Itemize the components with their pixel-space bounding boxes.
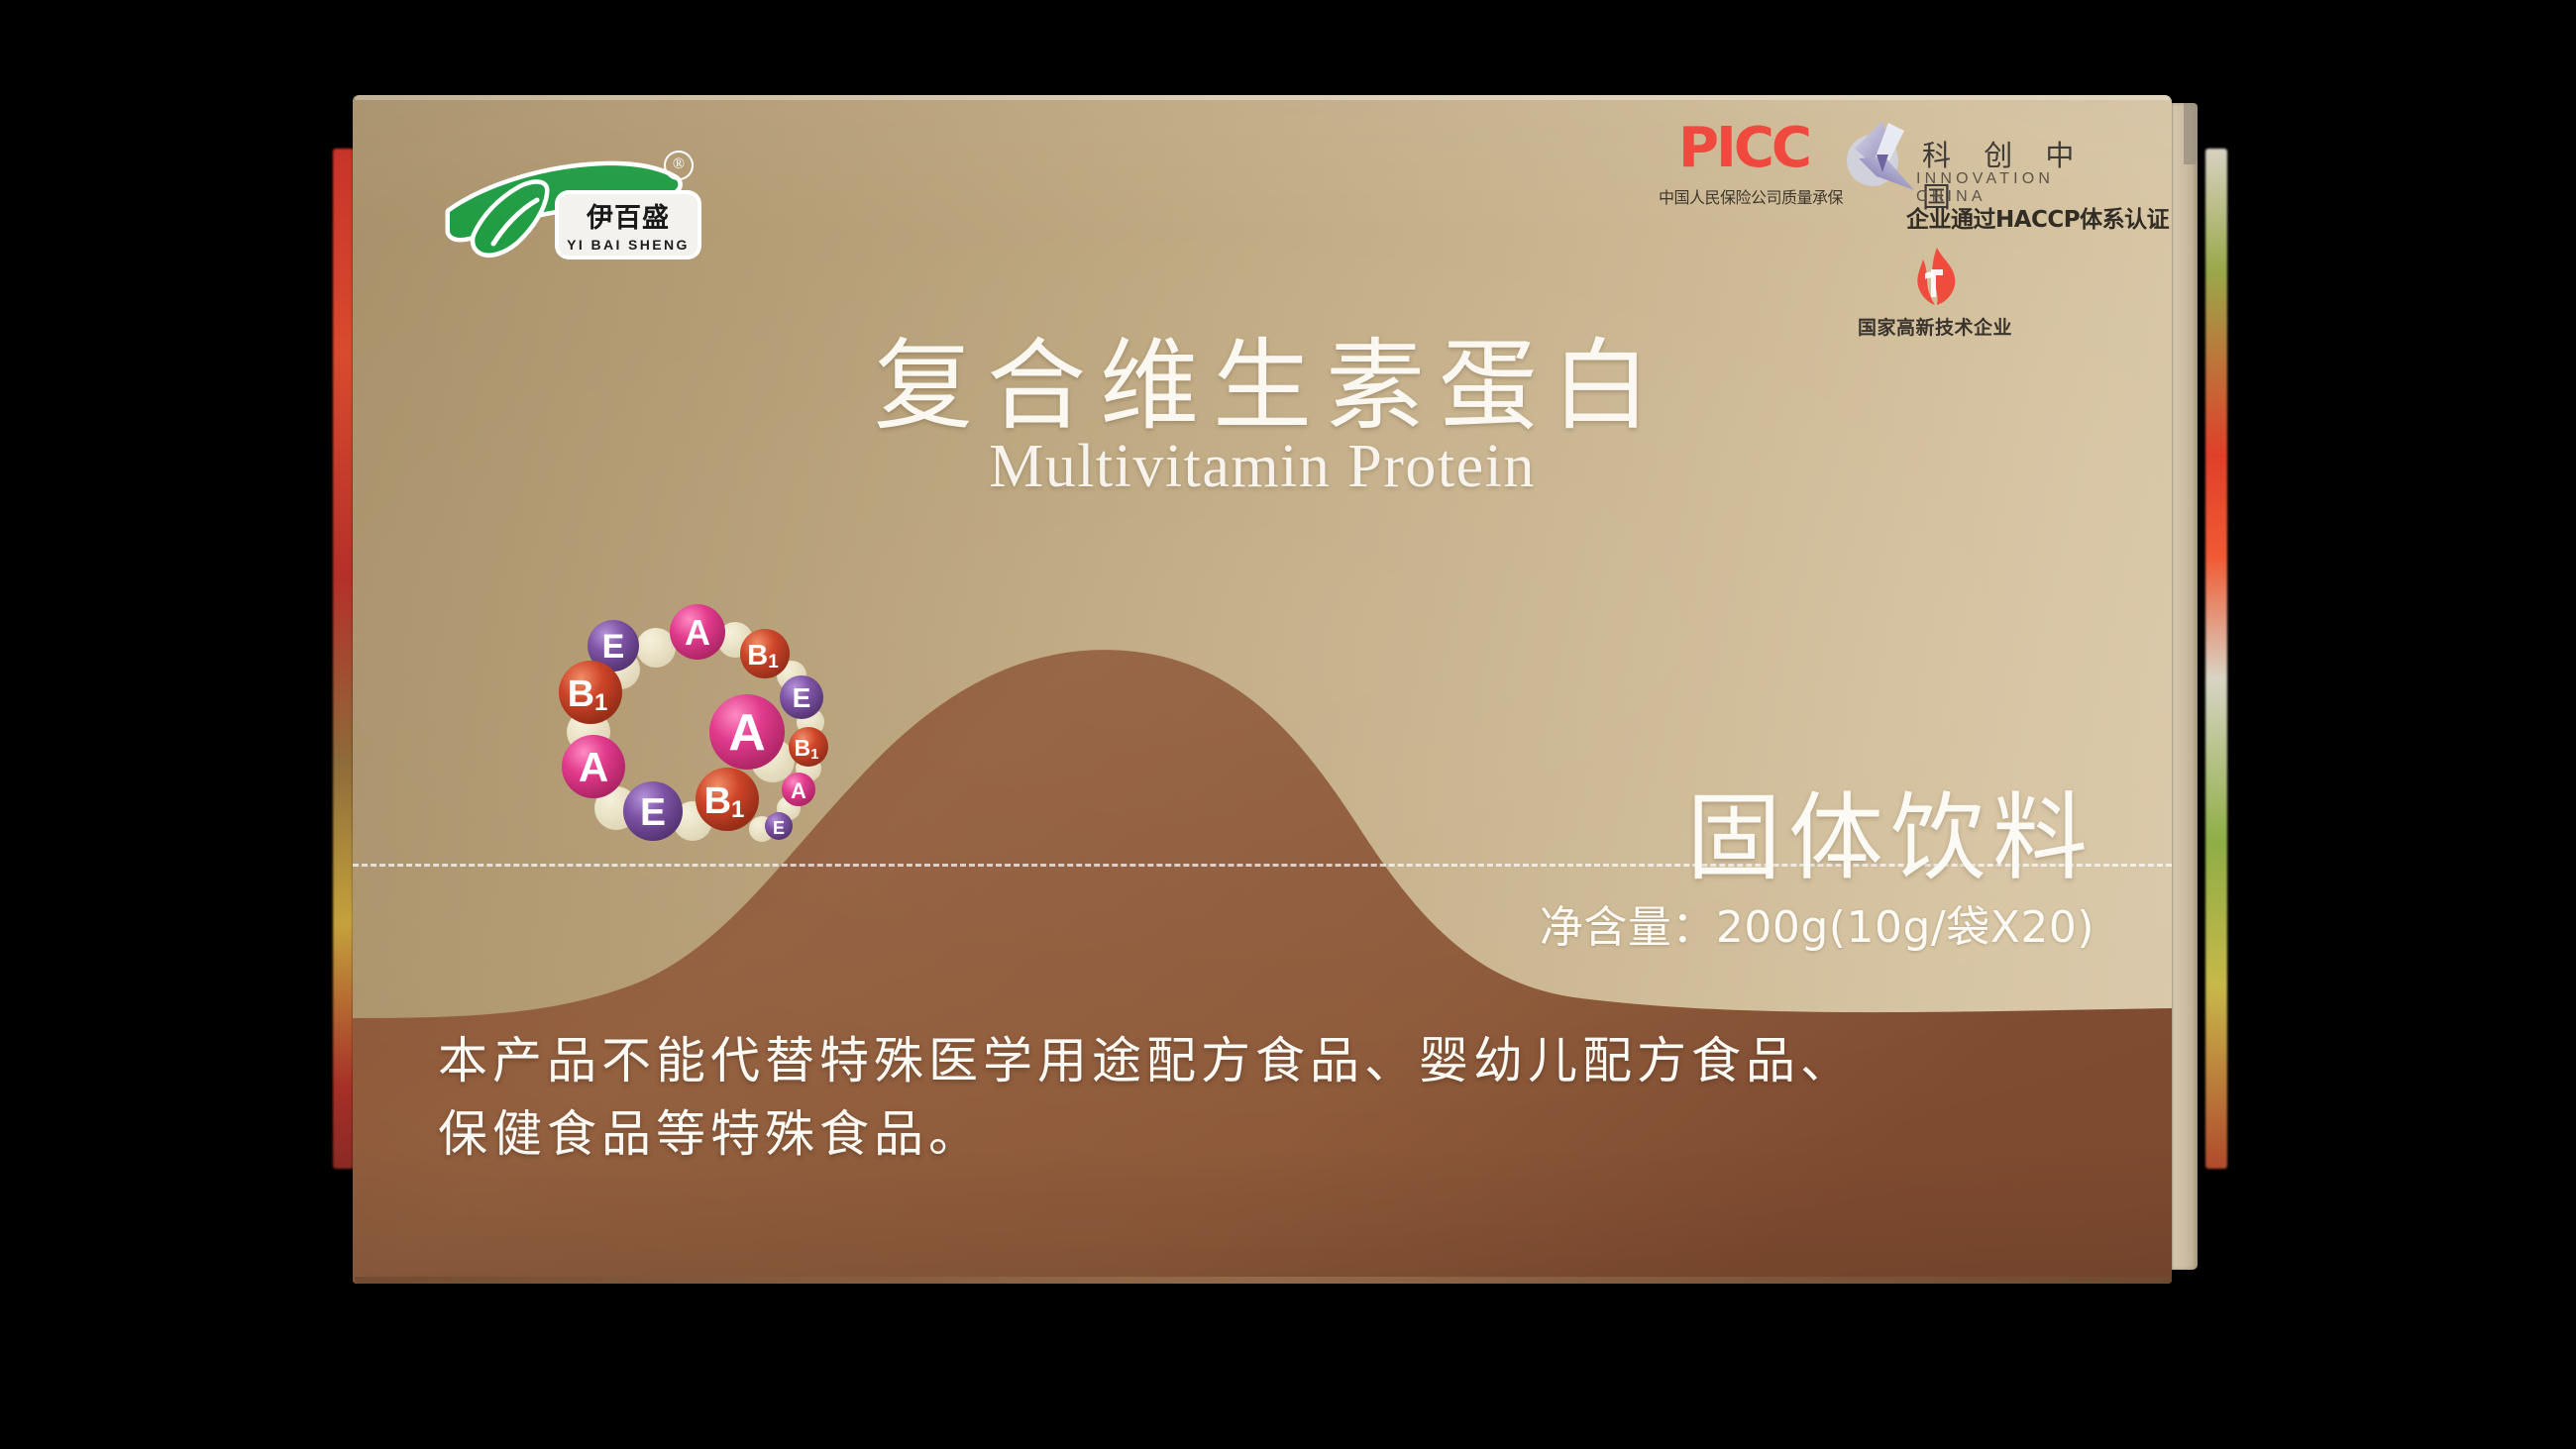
brand-name-cn: 伊百盛 [559, 196, 698, 235]
svg-text:E: E [793, 682, 811, 713]
sphere-A-3: A [562, 735, 625, 798]
svg-text:E: E [640, 791, 666, 834]
sphere-A-center: A [709, 694, 785, 770]
sphere-A-1: A [670, 604, 725, 660]
box-side-panel-notch [2184, 103, 2198, 164]
svg-text:A: A [579, 744, 608, 790]
sphere-A-2: A [782, 773, 815, 806]
behind-box-right-sliver [2205, 149, 2227, 1169]
box-front-face: ® 伊百盛 YI BAI SHENG PICC 中国人民保险公司质量承保 [353, 95, 2172, 1284]
brand-name-en: YI BAI SHENG [559, 237, 698, 253]
sphere-B1-2: B1 [789, 727, 828, 767]
box-top-edge [355, 95, 2170, 100]
brand-name-plate: 伊百盛 YI BAI SHENG [559, 194, 698, 256]
warning-line-2: 保健食品等特殊食品。 [438, 1097, 2116, 1171]
warning-text: 本产品不能代替特殊医学用途配方食品、婴幼儿配方食品、 保健食品等特殊食品。 [438, 1024, 2116, 1171]
sphere-B1-3: B1 [696, 768, 759, 831]
sphere-E-4: E [623, 781, 683, 841]
certification-row-top: PICC 中国人民保险公司质量承保 [1659, 121, 2124, 208]
picc-caption: 中国人民保险公司质量承保 [1659, 184, 1829, 208]
box-bottom-edge [355, 1277, 2170, 1284]
sphere-B1-4: B1 [559, 661, 622, 724]
net-weight-label: 净含量：200g(10g/袋X20) [1540, 891, 2094, 955]
picc-logo-text: PICC [1659, 121, 1829, 176]
product-title-cn: 复合维生素蛋白 [353, 305, 2172, 449]
behind-box-left-sliver [333, 149, 355, 1169]
svg-text:E: E [602, 628, 625, 666]
registered-trademark-icon: ® [664, 151, 694, 180]
sphere-E-3: E [765, 812, 793, 840]
brand-logo: ® 伊百盛 YI BAI SHENG [442, 145, 699, 263]
svg-text:A: A [728, 704, 766, 762]
vitamin-spheres-icon: E A B1 E [539, 588, 856, 885]
flame-hitech-icon [1903, 246, 1967, 309]
product-title-en: Multivitamin Protein [353, 432, 2172, 502]
product-type-label: 固体饮料 [1686, 761, 2094, 898]
screenshot-canvas: ® 伊百盛 YI BAI SHENG PICC 中国人民保险公司质量承保 [0, 0, 2576, 1449]
warning-line-1: 本产品不能代替特殊医学用途配方食品、婴幼儿配方食品、 [438, 1024, 2116, 1097]
innovation-china-icon [1833, 115, 1924, 206]
picc-badge: PICC 中国人民保险公司质量承保 [1659, 121, 1829, 208]
haccp-caption: 企业通过HACCP体系认证 [1906, 200, 2169, 234]
product-box: ® 伊百盛 YI BAI SHENG PICC 中国人民保险公司质量承保 [353, 95, 2172, 1284]
svg-text:A: A [791, 778, 806, 803]
sphere-E-2: E [780, 675, 823, 719]
sphere-B1-1: B1 [740, 629, 790, 678]
svg-text:A: A [685, 612, 710, 653]
box-side-panel [2168, 103, 2198, 1270]
svg-text:E: E [773, 818, 785, 838]
